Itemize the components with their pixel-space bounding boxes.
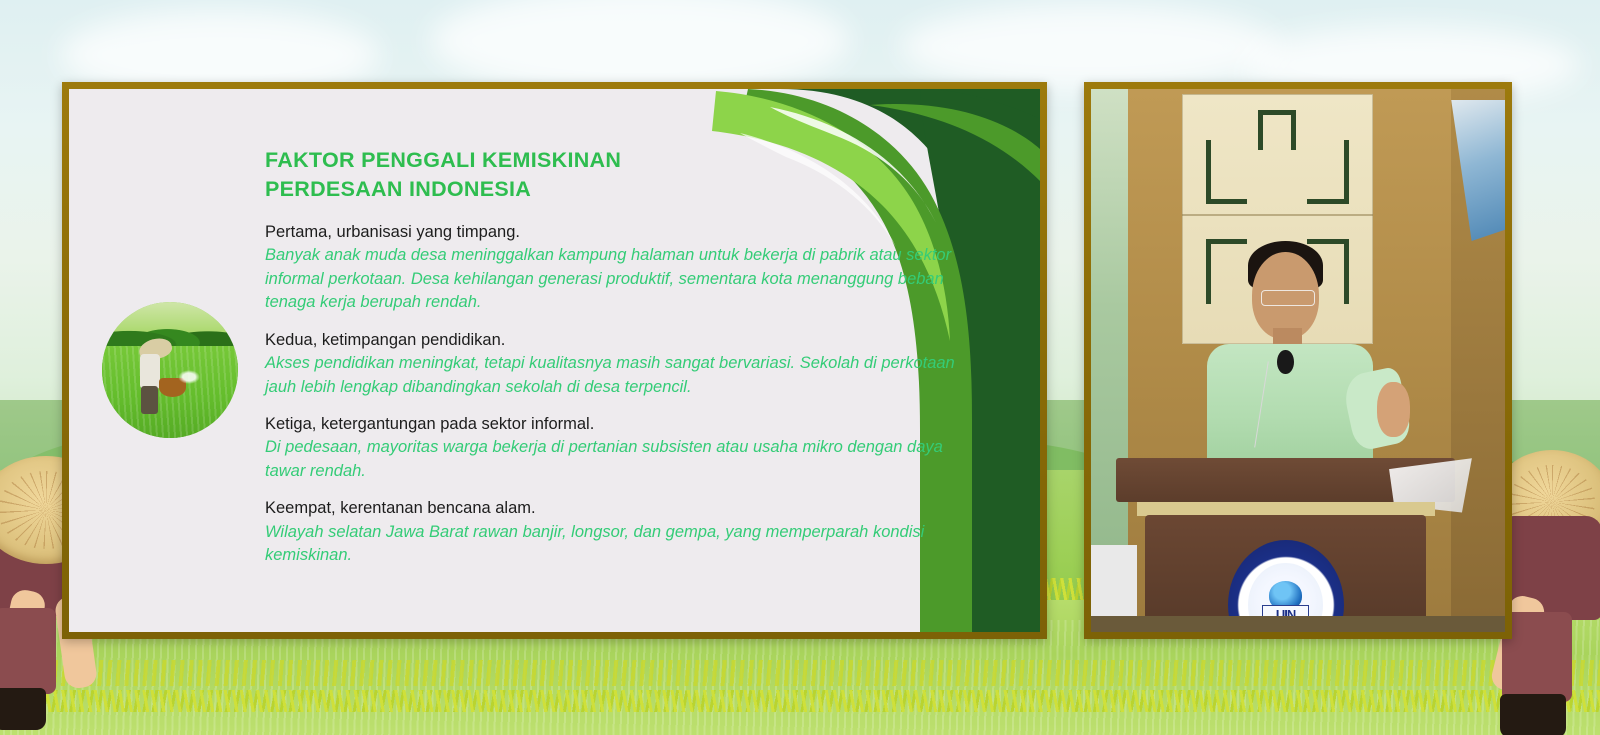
presentation-slide: FAKTOR PENGGALI KEMISKINAN PERDESAAN IND… — [69, 89, 1040, 632]
farmer-photo-circle — [102, 302, 238, 438]
block-detail: Di pedesaan, mayoritas warga bekerja di … — [265, 436, 987, 483]
glasses-icon — [1261, 290, 1315, 306]
podium-lip — [1137, 502, 1435, 516]
microphone-icon — [1277, 350, 1294, 374]
grass-row — [0, 690, 1600, 712]
floor-edge — [1091, 616, 1505, 632]
video-panel-frame: UNIVERSITAS ISLAM NEGERI SYARIF HIDAYATU… — [1084, 82, 1512, 639]
slide-block: Pertama, urbanisasi yang timpang. Banyak… — [265, 221, 987, 315]
slide-block: Keempat, kerentanan bencana alam. Wilaya… — [265, 497, 987, 567]
speaker-hand — [1377, 382, 1410, 436]
ornament-divider — [1182, 214, 1372, 216]
block-detail: Banyak anak muda desa meninggalkan kampu… — [265, 244, 987, 314]
block-lead: Kedua, ketimpangan pendidikan. — [265, 329, 987, 352]
grass-row — [0, 660, 1600, 686]
slide-title-line-2: PERDESAAN INDONESIA — [265, 175, 621, 204]
slide-panel-frame: FAKTOR PENGGALI KEMISKINAN PERDESAAN IND… — [62, 82, 1047, 639]
block-lead: Ketiga, ketergantungan pada sektor infor… — [265, 413, 987, 436]
block-detail: Akses pendidikan meningkat, tetapi kuali… — [265, 352, 987, 399]
cloud-shape — [900, 4, 1280, 90]
speaker-video-feed[interactable]: UNIVERSITAS ISLAM NEGERI SYARIF HIDAYATU… — [1091, 89, 1505, 632]
slide-title: FAKTOR PENGGALI KEMISKINAN PERDESAAN IND… — [265, 146, 621, 203]
slide-block: Ketiga, ketergantungan pada sektor infor… — [265, 413, 987, 483]
block-detail: Wilayah selatan Jawa Barat rawan banjir,… — [265, 521, 987, 568]
slide-title-line-1: FAKTOR PENGGALI KEMISKINAN — [265, 146, 621, 175]
block-lead: Keempat, kerentanan bencana alam. — [265, 497, 987, 520]
slide-block: Kedua, ketimpangan pendidikan. Akses pen… — [265, 329, 987, 399]
block-lead: Pertama, urbanisasi yang timpang. — [265, 221, 987, 244]
slide-body: Pertama, urbanisasi yang timpang. Banyak… — [265, 221, 987, 567]
